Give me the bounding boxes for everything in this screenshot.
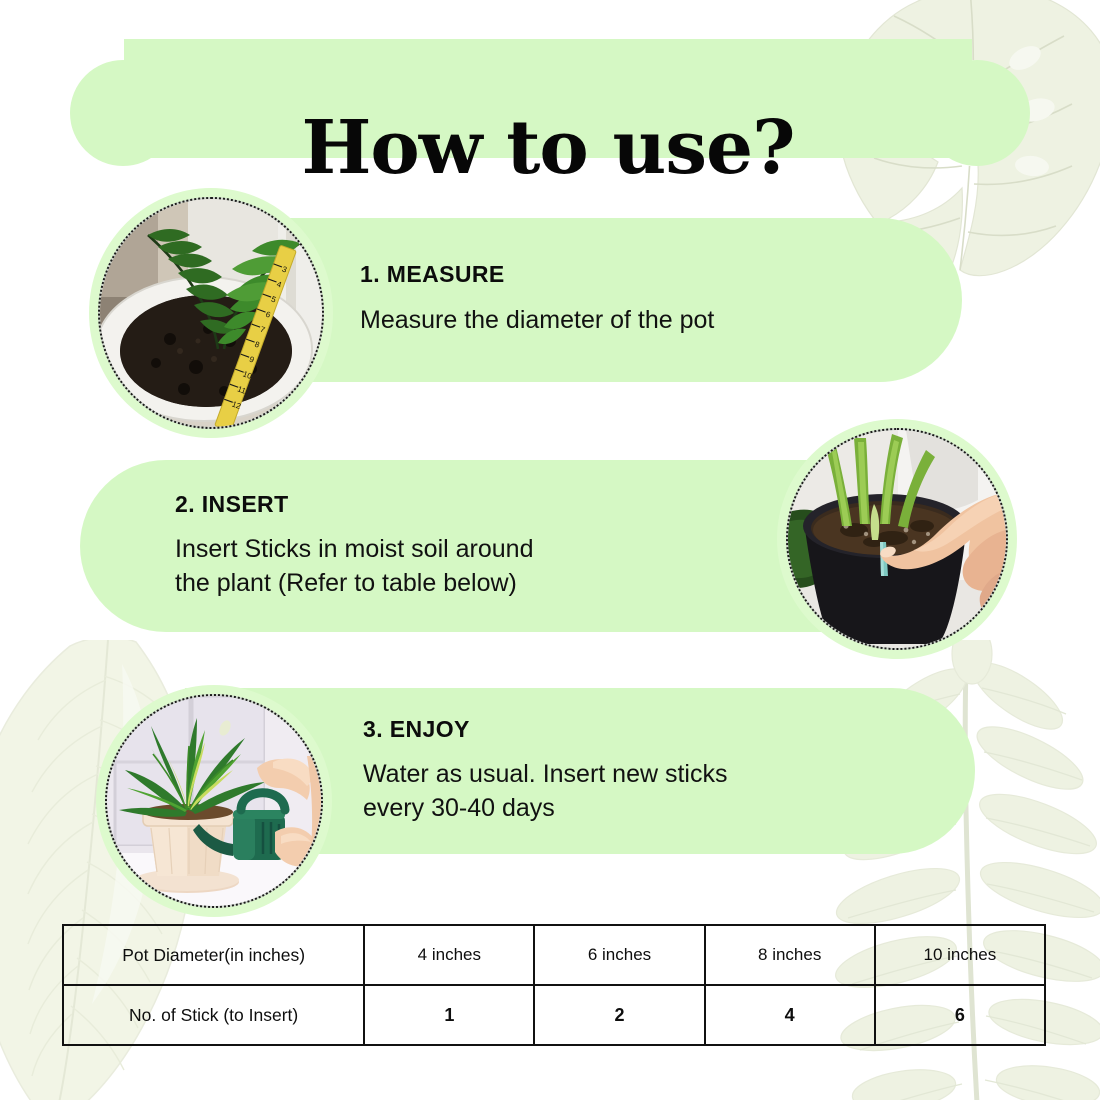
step-1-title: 1. MEASURE [360, 262, 962, 287]
table-cell: 6 inches [534, 925, 704, 985]
step-1-description: Measure the diameter of the pot [360, 304, 962, 338]
step-3-description-line-2: every 30-40 days [363, 792, 975, 826]
step-2-description: Insert Sticks in moist soil around the p… [175, 533, 680, 601]
step-2-photo [786, 428, 1008, 650]
table-cell: 6 [875, 985, 1045, 1045]
potted-palm-with-tape-measure-image: 345 678 91011 12 [100, 199, 322, 427]
step-3-description-line-1: Water as usual. Insert new sticks [363, 758, 975, 792]
table-cell: 1 [364, 985, 534, 1045]
infographic-canvas: How to use? 1. MEASURE Measure the diame… [0, 0, 1100, 1100]
step-2-card: 2. INSERT Insert Sticks in moist soil ar… [80, 460, 870, 632]
table-cell: 4 [705, 985, 875, 1045]
step-3-description: Water as usual. Insert new sticks every … [363, 758, 975, 826]
table-row-label: Pot Diameter(in inches) [63, 925, 364, 985]
table-cell: 4 inches [364, 925, 534, 985]
step-2-title: 2. INSERT [175, 492, 680, 517]
table-cell: 10 inches [875, 925, 1045, 985]
watering-peace-lily-with-green-can-image [107, 696, 321, 906]
step-1-photo: 345 678 91011 12 [98, 197, 324, 429]
table-row: Pot Diameter(in inches) 4 inches 6 inche… [63, 925, 1045, 985]
step-2-description-line-1: Insert Sticks in moist soil around [175, 533, 680, 567]
table-cell: 8 inches [705, 925, 875, 985]
step-3-photo [105, 694, 323, 908]
page-title: How to use? [124, 89, 972, 208]
table-row: No. of Stick (to Insert) 1 2 4 6 [63, 985, 1045, 1045]
table-cell: 2 [534, 985, 704, 1045]
table-row-label: No. of Stick (to Insert) [63, 985, 364, 1045]
pot-diameter-stick-table: Pot Diameter(in inches) 4 inches 6 inche… [62, 924, 1046, 1046]
step-3-title: 3. ENJOY [363, 717, 975, 742]
hand-inserting-stick-into-black-pot-image [788, 430, 1006, 648]
step-2-description-line-2: the plant (Refer to table below) [175, 567, 680, 601]
